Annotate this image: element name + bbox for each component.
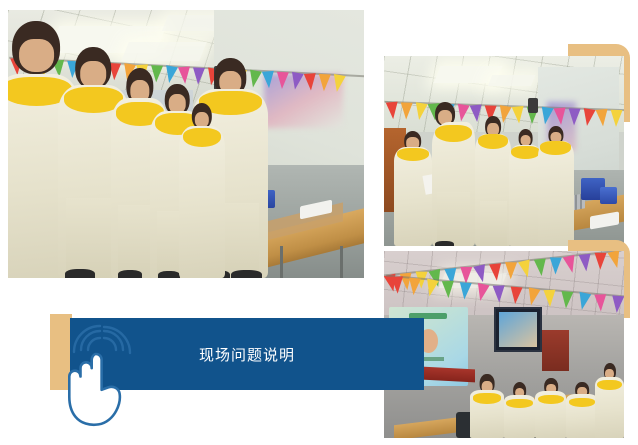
yellow-collar [435,125,471,143]
caption-banner[interactable]: 现场问题说明 [70,318,424,390]
bunting-flag [509,286,522,304]
yellow-collar [506,399,532,408]
bunting-flag [518,260,534,279]
coverall [538,141,574,246]
bunting-flag [489,263,503,281]
bunting-flag [304,73,317,91]
face [81,61,107,87]
wall-speaker [528,98,538,113]
bunting-flag [386,102,399,120]
seated-trainee [566,382,597,438]
bunting-flag [474,283,489,302]
bunting-flag [413,103,428,122]
bunting-flag [391,276,404,293]
bunting-flag [424,278,439,297]
main-photo-trainer-demonstration[interactable] [8,10,364,278]
bunting-flag [276,72,289,90]
bunting-flag [579,254,593,272]
bunting-flag [318,74,331,92]
shoe [65,269,95,278]
photo-content [8,10,364,278]
trousers [437,192,470,246]
seated-trainee [470,374,504,438]
bunting-flag [563,255,579,274]
seated-trainee [504,382,535,438]
bunting-flag [442,281,455,298]
bunting-flag [554,108,567,126]
bunting-flag [408,277,421,295]
yellow-collar [478,134,508,149]
shoe [435,241,453,246]
bunting-flag [458,282,471,300]
banner-accent-plate [50,314,72,390]
yellow-collar [511,146,539,159]
caption-banner-label: 现场问题说明 [70,318,424,390]
bunting-flag [289,72,304,91]
head [13,21,61,75]
yellow-collar [397,148,429,161]
shoe [231,270,262,278]
face [19,39,53,72]
bunting-flag [505,262,517,279]
yellow-collar [473,393,501,403]
trousers [480,201,507,246]
podium [542,330,568,371]
bunting-flag [331,74,346,93]
bunting-flag [543,289,556,306]
worker-bending [432,86,475,246]
yellow-collar [597,380,621,390]
bunting-flag [608,251,624,270]
worker [179,101,225,278]
blue-equipment-part [600,187,617,204]
bunting-flag [610,110,623,127]
ceiling-light [487,75,535,86]
bunting-flag [473,264,489,283]
slide-canvas: 现场问题说明 [0,0,638,445]
bunting-flag [539,107,554,126]
worker [475,113,511,246]
bunting-flag [581,108,596,127]
shoe [158,271,180,278]
bunting-flag [594,294,607,311]
bunting-flag [512,106,525,124]
bunting-flag [611,295,624,313]
yellow-collar [569,398,595,407]
bunting-flag [525,287,540,306]
coverall [394,147,432,246]
yellow-collar [540,141,570,154]
photo-group-inspecting-equipment[interactable] [384,56,624,246]
coverall [179,126,225,278]
standing-trainee [595,363,624,438]
bunting-flag [549,258,561,275]
wall-monitor [494,307,541,352]
bunting-flag [400,103,413,120]
bunting-flag [493,285,506,302]
bunting-flag [534,259,548,277]
shoe [118,270,142,278]
head [76,47,112,89]
seated-trainee [535,378,566,438]
bunting-flag [560,291,573,309]
photo-content [384,56,624,246]
bunting-flag [596,109,609,127]
worker [394,128,432,246]
bunting-flag [576,292,591,311]
worker [538,124,574,246]
bunting-flag [594,253,606,270]
